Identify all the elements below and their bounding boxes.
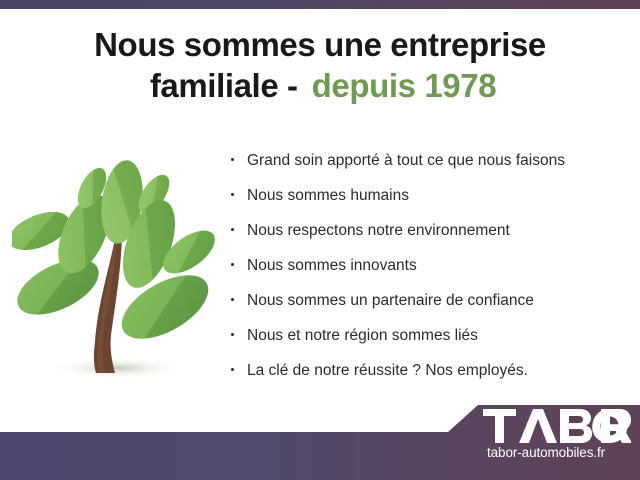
list-item-label: Nous sommes innovants	[247, 257, 417, 274]
list-item-label: Grand soin apporté à tout ce que nous fa…	[247, 152, 565, 169]
list-item-label: Nous et notre région sommes liés	[247, 327, 478, 344]
list-item: Nous sommes humains	[229, 185, 629, 220]
title-line-2-text: familiale -	[150, 67, 298, 104]
family-tree-illustration	[12, 152, 217, 387]
bullet-dot-icon	[231, 298, 234, 301]
title-line-2: familiale -depuis 1978	[0, 65, 640, 106]
benefits-list: Grand soin apporté à tout ce que nous fa…	[229, 150, 629, 395]
title-accent-text: depuis 1978	[312, 67, 497, 104]
list-item-label: La clé de notre réussite ? Nos employés.	[247, 362, 528, 379]
list-item: Grand soin apporté à tout ce que nous fa…	[229, 150, 629, 185]
list-item-label: Nous sommes humains	[247, 187, 409, 204]
logo-tagline: tabor-automobiles.fr	[487, 445, 635, 460]
list-item: Nous et notre région sommes liés	[229, 325, 629, 360]
bullet-dot-icon	[231, 193, 234, 196]
list-item-label: Nous sommes un partenaire de confiance	[247, 292, 534, 309]
top-accent-bar	[0, 0, 640, 9]
bullet-dot-icon	[231, 368, 234, 371]
list-item: Nous respectons notre environnement	[229, 220, 629, 255]
tabor-wordmark-icon	[483, 409, 631, 443]
page-title: Nous sommes une entreprise familiale -de…	[0, 24, 640, 106]
list-item: Nous sommes innovants	[229, 255, 629, 290]
bullet-dot-icon	[231, 158, 234, 161]
list-item: La clé de notre réussite ? Nos employés.	[229, 360, 629, 395]
list-item: Nous sommes un partenaire de confiance	[229, 290, 629, 325]
tree-shadow	[50, 357, 186, 379]
title-line-1: Nous sommes une entreprise	[0, 24, 640, 65]
slide-canvas: Nous sommes une entreprise familiale -de…	[0, 0, 640, 480]
bullet-dot-icon	[231, 228, 234, 231]
bullet-dot-icon	[231, 333, 234, 336]
brand-logo[interactable]: tabor-automobiles.fr	[483, 409, 635, 460]
list-item-label: Nous respectons notre environnement	[247, 222, 510, 239]
bullet-dot-icon	[231, 263, 234, 266]
